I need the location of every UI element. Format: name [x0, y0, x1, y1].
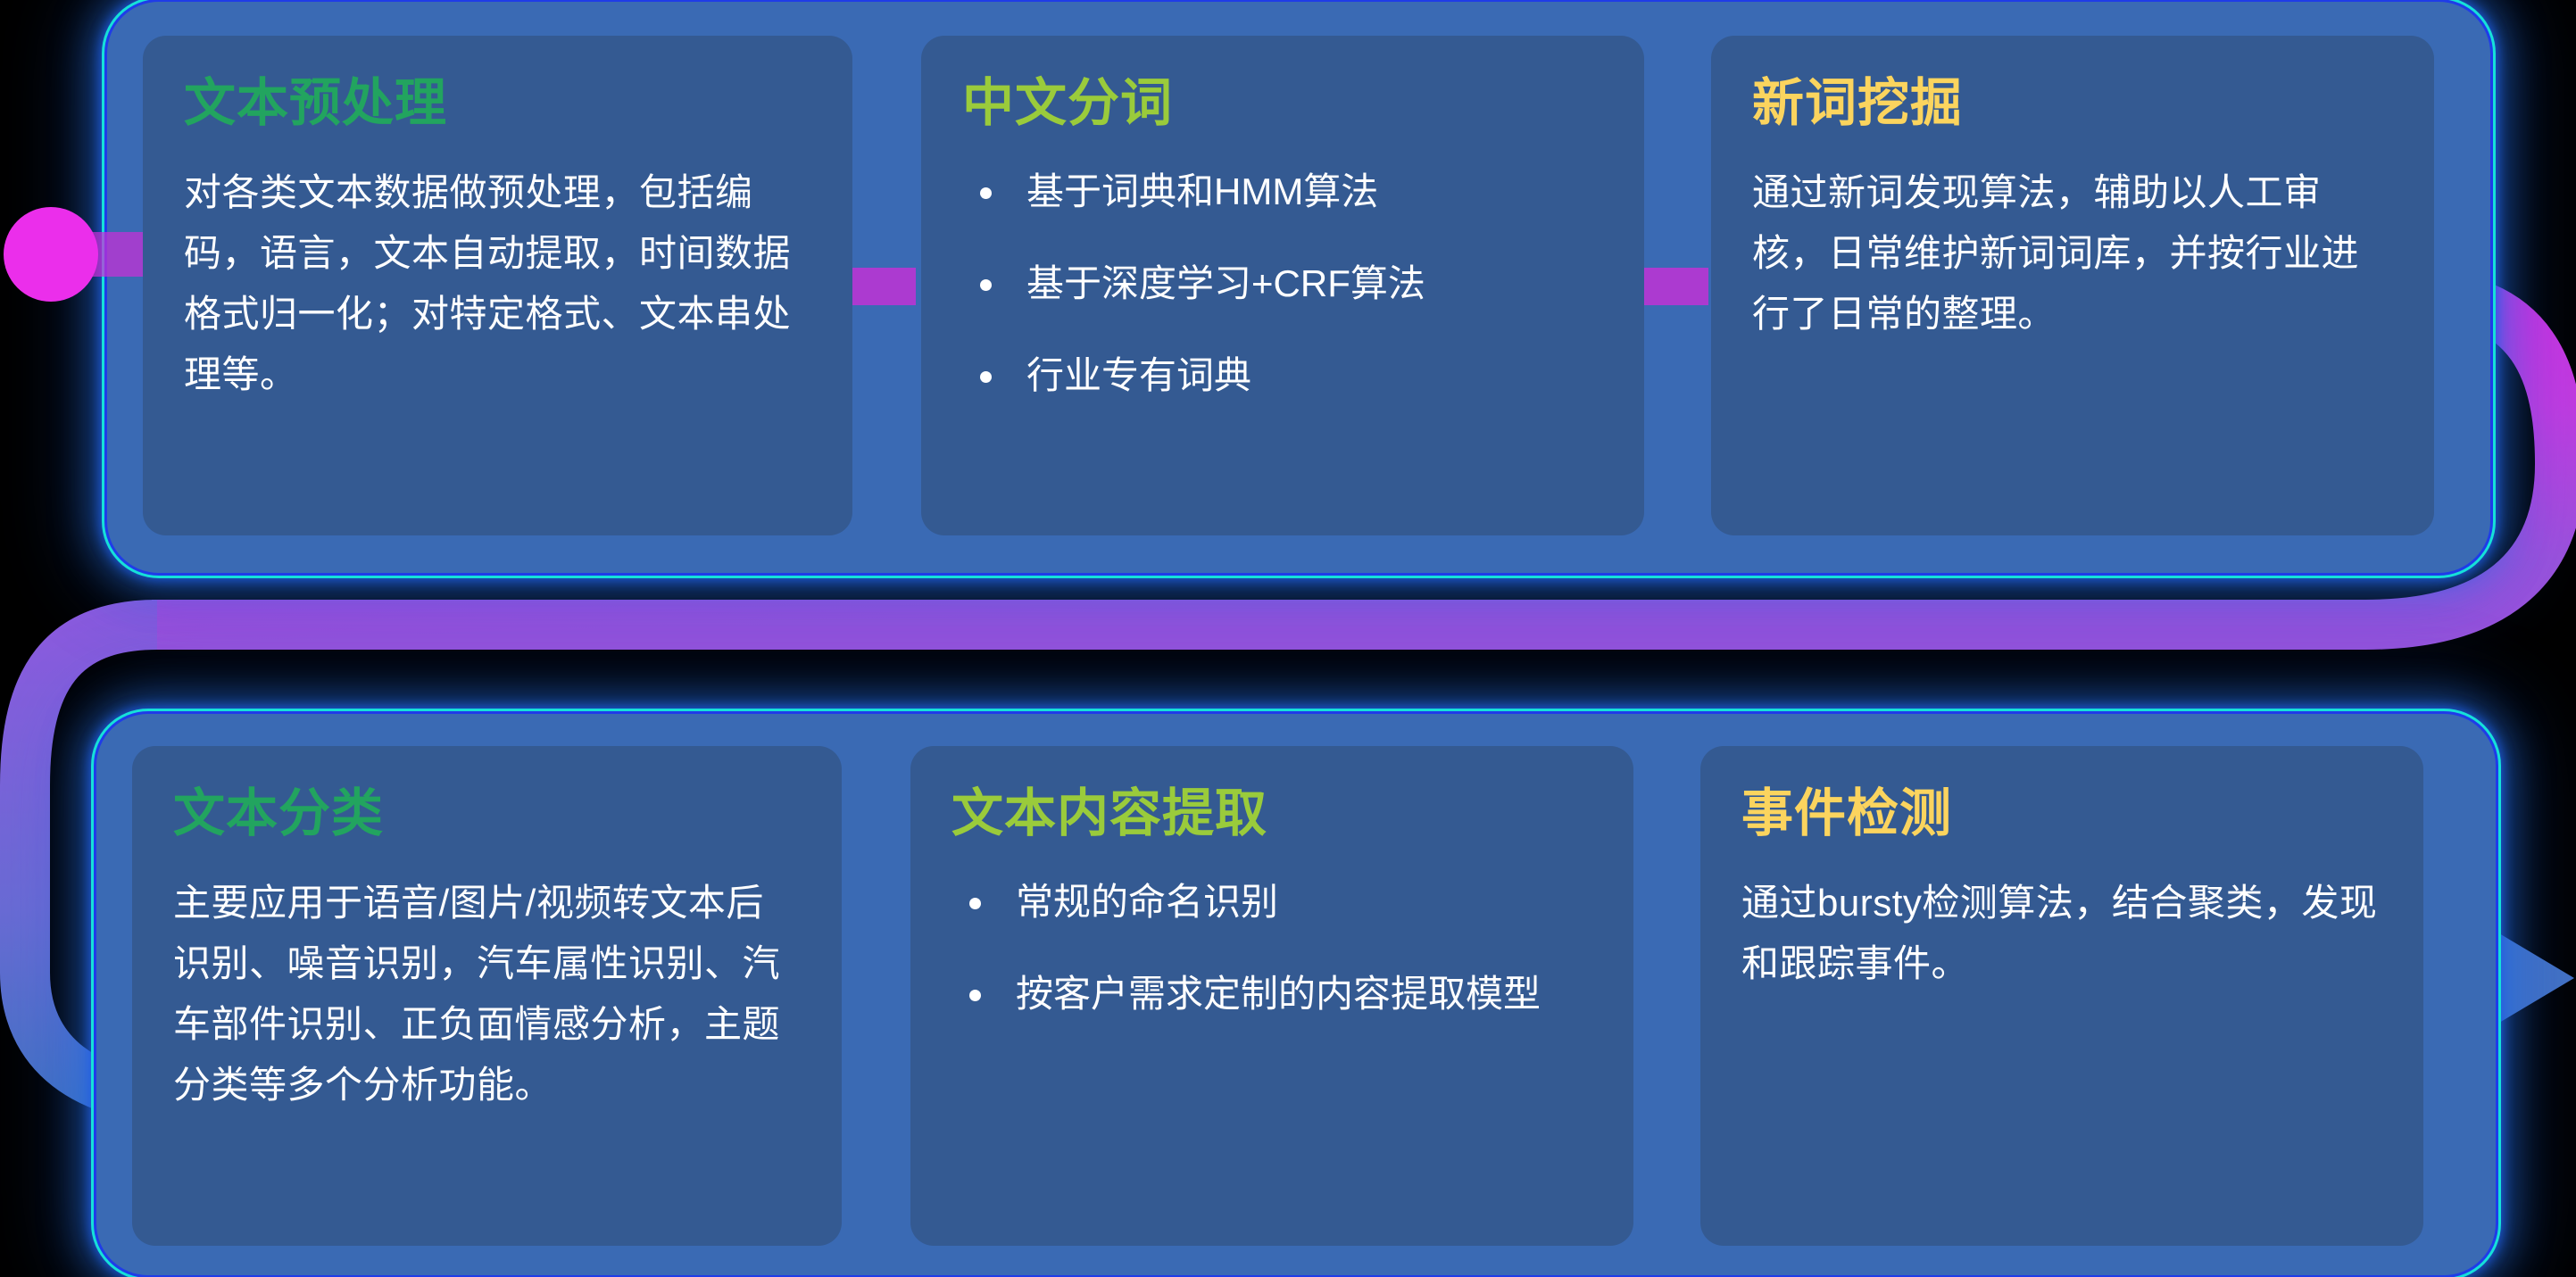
card-paragraph: 通过新词发现算法，辅助以人工审核，日常维护新词词库，并按行业进行了日常的整理。 [1752, 162, 2393, 344]
card-bullet-list: 基于词典和HMM算法 基于深度学习+CRF算法 行业专有词典 [962, 162, 1603, 404]
card-title: 新词挖掘 [1752, 75, 2393, 132]
list-item: 按客户需求定制的内容提取模型 [951, 965, 1592, 1023]
card-event-detection[interactable]: 事件检测 通过bursty检测算法，结合聚类，发现和跟踪事件。 [1700, 746, 2423, 1246]
card-paragraph: 对各类文本数据做预处理，包括编码，语言，文本自动提取，时间数据格式归一化；对特定… [184, 162, 811, 405]
list-item: 基于深度学习+CRF算法 [962, 254, 1603, 312]
diagram-canvas: 文本预处理 对各类文本数据做预处理，包括编码，语言，文本自动提取，时间数据格式归… [0, 0, 2576, 1277]
card-text-content-extraction[interactable]: 文本内容提取 常规的命名识别 按客户需求定制的内容提取模型 [910, 746, 1633, 1246]
card-title: 中文分词 [962, 75, 1603, 132]
connector-card4-card5 [841, 973, 905, 1010]
card-title: 文本预处理 [184, 75, 811, 132]
card-text-classification[interactable]: 文本分类 主要应用于语音/图片/视频转文本后识别、噪音识别，汽车属性识别、汽车部… [132, 746, 842, 1246]
card-title: 文本内容提取 [951, 785, 1592, 842]
card-new-word-mining[interactable]: 新词挖掘 通过新词发现算法，辅助以人工审核，日常维护新词词库，并按行业进行了日常… [1711, 36, 2434, 535]
list-item: 基于词典和HMM算法 [962, 162, 1603, 220]
connector-card2-card3 [1644, 268, 1708, 305]
card-title: 事件检测 [1741, 785, 2382, 842]
card-text-preprocessing[interactable]: 文本预处理 对各类文本数据做预处理，包括编码，语言，文本自动提取，时间数据格式归… [143, 36, 852, 535]
list-item: 常规的命名识别 [951, 873, 1592, 931]
list-item: 行业专有词典 [962, 346, 1603, 404]
card-chinese-word-segmentation[interactable]: 中文分词 基于词典和HMM算法 基于深度学习+CRF算法 行业专有词典 [921, 36, 1644, 535]
card-paragraph: 主要应用于语音/图片/视频转文本后识别、噪音识别，汽车属性识别、汽车部件识别、正… [173, 873, 801, 1115]
card-title: 文本分类 [173, 785, 801, 842]
card-paragraph: 通过bursty检测算法，结合聚类，发现和跟踪事件。 [1741, 873, 2382, 994]
card-bullet-list: 常规的命名识别 按客户需求定制的内容提取模型 [951, 873, 1592, 1023]
connector-card1-card2 [852, 268, 916, 305]
connector-card5-card6 [1633, 973, 1698, 1010]
start-dot-marker [4, 207, 98, 302]
